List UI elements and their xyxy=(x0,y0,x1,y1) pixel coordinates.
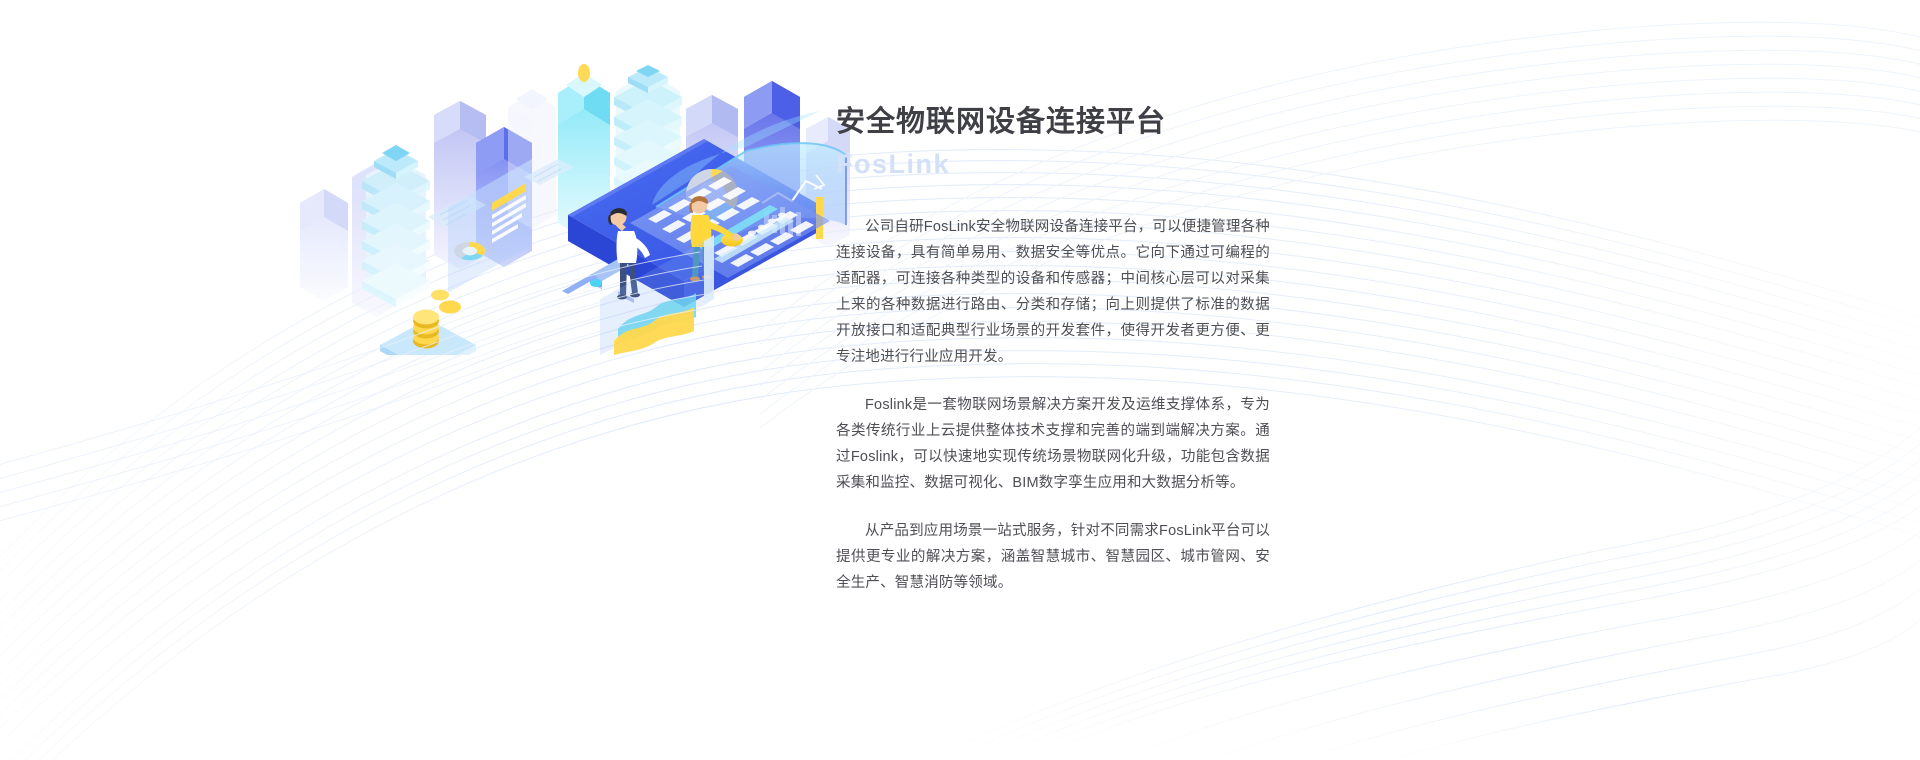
page-subtitle: FosLink xyxy=(836,147,1306,182)
description-paragraphs: 公司自研FosLink安全物联网设备连接平台，可以便捷管理各种连接设备，具有简单… xyxy=(836,214,1270,596)
city-building-far-left xyxy=(300,189,348,301)
paragraph-2: Foslink是一套物联网场景解决方案开发及运维支撑体系，专为各类传统行业上云提… xyxy=(836,392,1270,496)
beacon-light xyxy=(578,64,590,82)
paragraph-1: 公司自研FosLink安全物联网设备连接平台，可以便捷管理各种连接设备，具有简单… xyxy=(836,214,1270,370)
paragraph-3: 从产品到应用场景一站式服务，针对不同需求FosLink平台可以提供更专业的解决方… xyxy=(836,518,1270,596)
isometric-iot-platform-illustration xyxy=(300,55,860,355)
coin-stack xyxy=(413,310,439,349)
hero-content: 安全物联网设备连接平台 FosLink 公司自研FosLink安全物联网设备连接… xyxy=(836,104,1306,596)
coin-floating-2 xyxy=(431,290,449,301)
coin-floating-1 xyxy=(439,301,461,314)
hero-section: 安全物联网设备连接平台 FosLink 公司自研FosLink安全物联网设备连接… xyxy=(0,0,1920,760)
city-tower-ringed-main xyxy=(362,145,430,311)
page-title: 安全物联网设备连接平台 xyxy=(836,104,1306,140)
